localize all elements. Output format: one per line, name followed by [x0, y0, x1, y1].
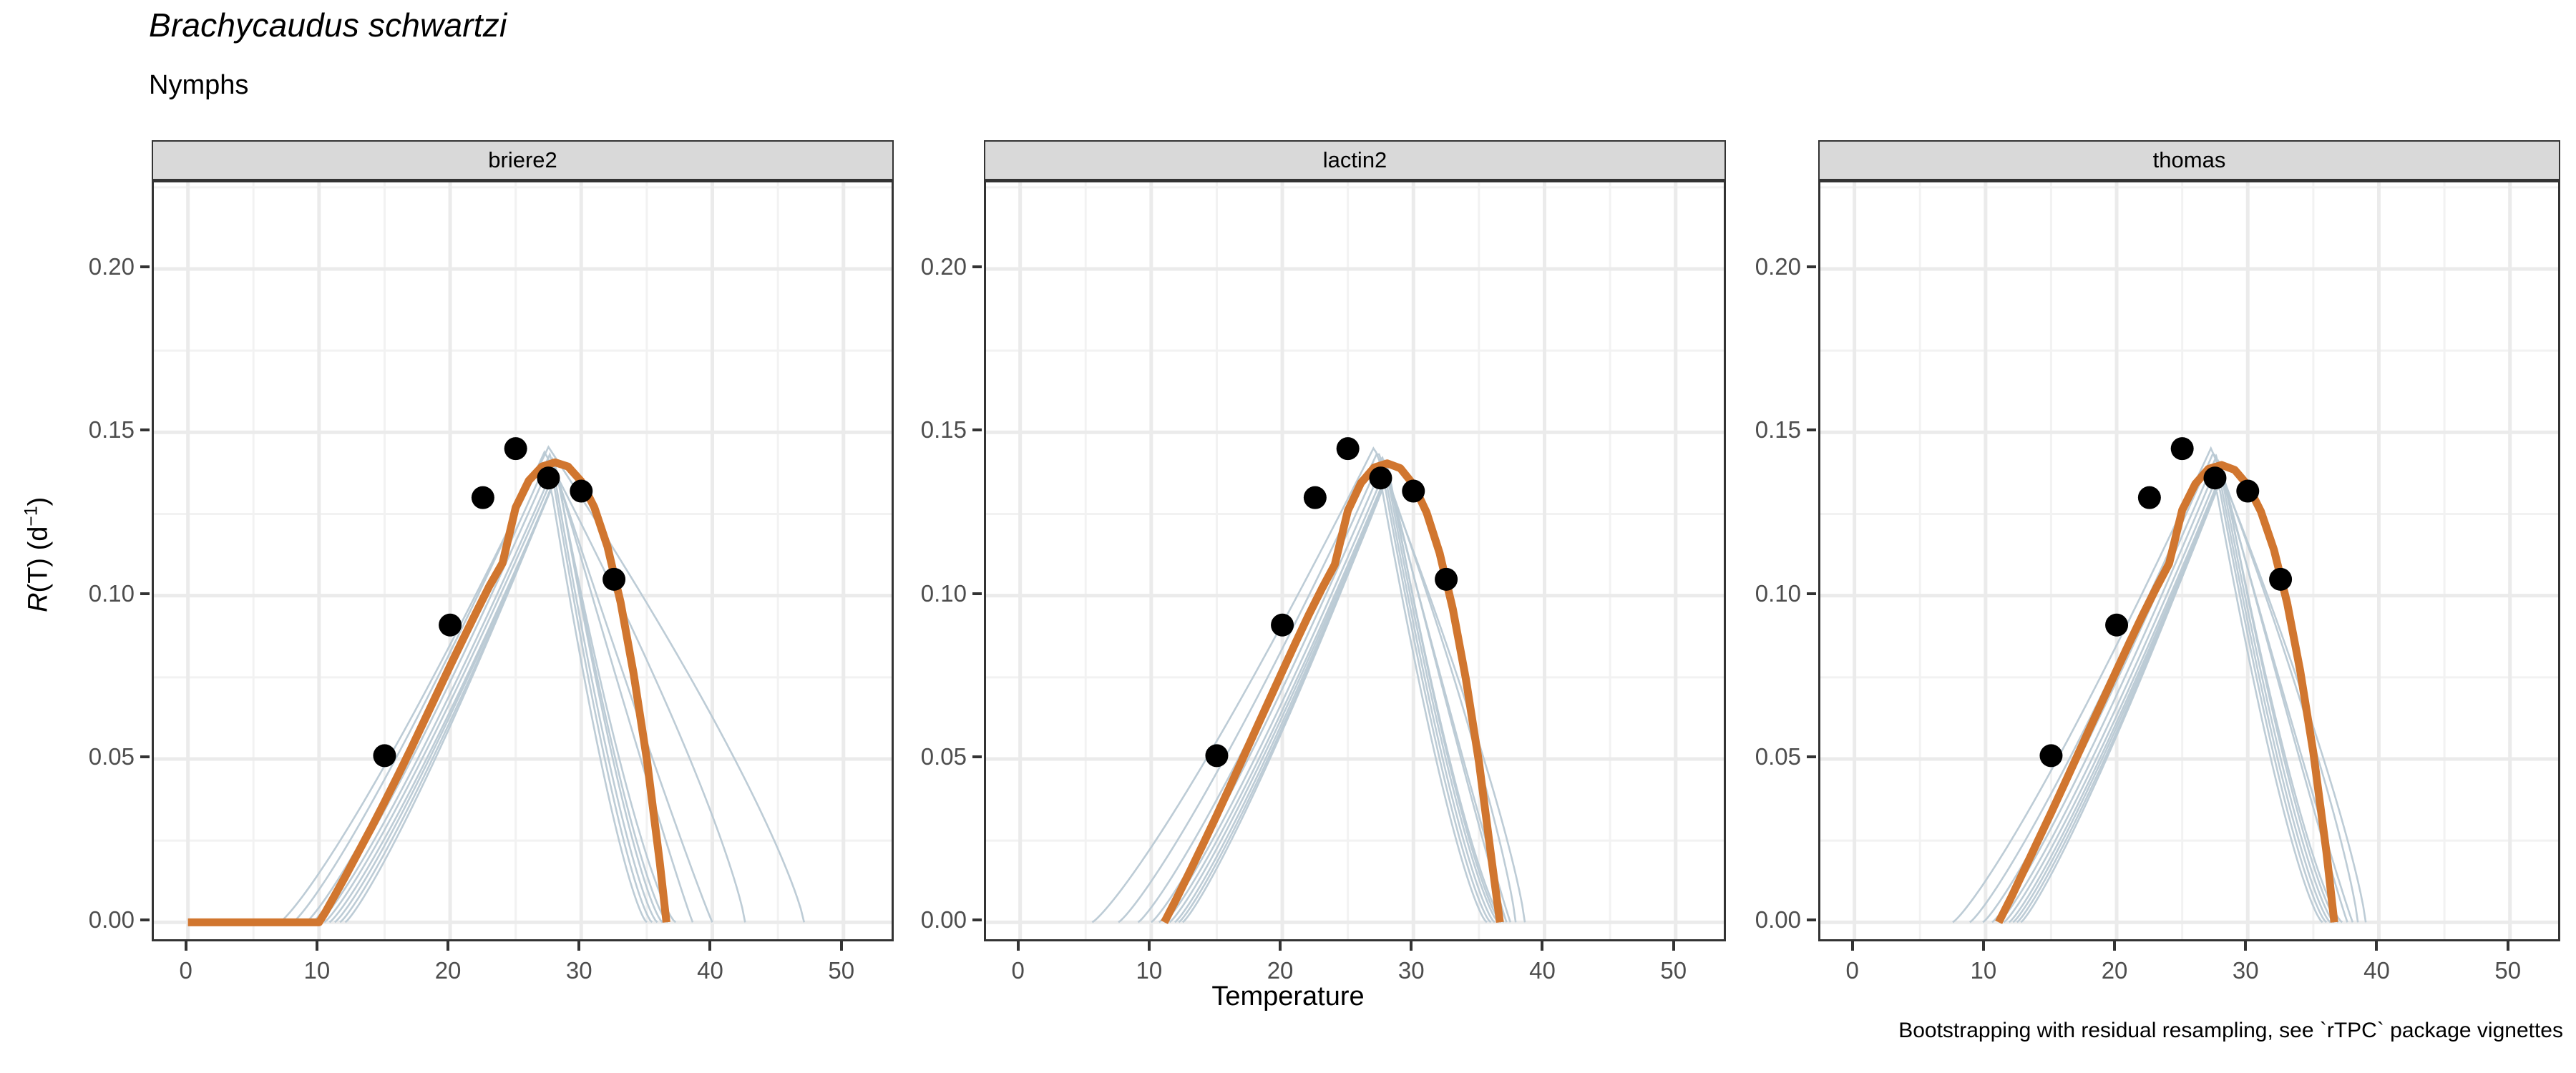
plot-canvas-thomas — [1820, 182, 2560, 941]
data-point — [439, 614, 462, 637]
x-tick-label: 0 — [1845, 957, 1858, 984]
data-point — [2138, 486, 2161, 509]
grid-major — [154, 182, 894, 941]
y-tick-label: 0.00 — [9, 906, 135, 934]
x-tick-mark — [1672, 941, 1675, 951]
y-tick-mark — [1807, 918, 1816, 921]
plot-area-thomas — [1818, 180, 2560, 941]
data-point — [1435, 568, 1458, 591]
data-point — [1369, 466, 1392, 489]
data-point — [2203, 466, 2226, 489]
y-tick-label: 0.05 — [841, 743, 967, 770]
x-tick-mark — [316, 941, 318, 951]
grid-major — [986, 182, 1726, 941]
x-tick-mark — [447, 941, 449, 951]
y-tick-label: 0.20 — [9, 253, 135, 280]
grid-minor — [154, 182, 894, 941]
data-point — [537, 466, 560, 489]
x-tick-label: 10 — [1970, 957, 1996, 984]
y-tick-mark — [1807, 265, 1816, 268]
y-tick-label: 0.15 — [1675, 416, 1801, 444]
y-tick-label: 0.05 — [9, 743, 135, 770]
data-point — [2171, 437, 2194, 460]
y-tick-label: 0.00 — [841, 906, 967, 934]
x-tick-mark — [1148, 941, 1151, 951]
data-point — [570, 480, 592, 503]
y-tick-label: 0.15 — [841, 416, 967, 444]
x-axis-title: Temperature — [0, 981, 2576, 1012]
plot-canvas-briere2 — [154, 182, 894, 941]
facet-strip-label-lactin2: lactin2 — [984, 140, 1726, 180]
data-point — [2269, 568, 2292, 591]
figure-root: Brachycaudus schwartzi Nymphs R(T) (d−1)… — [0, 0, 2576, 1073]
y-tick-mark — [140, 918, 150, 921]
x-tick-mark — [2244, 941, 2247, 951]
x-tick-mark — [1982, 941, 1985, 951]
y-tick-label: 0.10 — [841, 580, 967, 607]
figure-subtitle: Nymphs — [149, 70, 248, 101]
data-point — [472, 486, 494, 509]
y-tick-mark — [140, 265, 150, 268]
x-tick-mark — [577, 941, 580, 951]
x-tick-mark — [1541, 941, 1543, 951]
y-tick-mark — [1807, 428, 1816, 431]
x-tick-mark — [2113, 941, 2116, 951]
x-tick-label: 40 — [1529, 957, 1556, 984]
x-tick-label: 50 — [1660, 957, 1687, 984]
grid-minor — [1820, 182, 2560, 941]
data-point — [1304, 486, 1327, 509]
bootstrap-lines — [1092, 449, 1525, 923]
data-point — [2105, 614, 2128, 637]
data-point — [504, 437, 527, 460]
data-point — [1337, 437, 1360, 460]
x-tick-mark — [708, 941, 711, 951]
y-tick-mark — [972, 918, 982, 921]
facet-strip-label-thomas: thomas — [1818, 140, 2560, 180]
grid-minor — [986, 182, 1726, 941]
data-point — [2039, 744, 2062, 767]
y-tick-label: 0.00 — [1675, 906, 1801, 934]
grid-major — [1820, 182, 2560, 941]
x-tick-label: 30 — [566, 957, 592, 984]
y-tick-label: 0.05 — [1675, 743, 1801, 770]
data-point — [602, 568, 625, 591]
y-tick-label: 0.20 — [1675, 253, 1801, 280]
x-tick-mark — [1017, 941, 1020, 951]
figure-caption: Bootstrapping with residual resampling, … — [1898, 1019, 2563, 1043]
figure-title: Brachycaudus schwartzi — [149, 6, 507, 44]
x-tick-label: 0 — [1011, 957, 1024, 984]
x-tick-label: 30 — [2233, 957, 2259, 984]
x-tick-label: 40 — [697, 957, 723, 984]
x-tick-label: 30 — [1398, 957, 1425, 984]
plot-area-lactin2 — [984, 180, 1726, 941]
plot-area-briere2 — [152, 180, 894, 941]
y-tick-mark — [972, 755, 982, 758]
y-axis-title: R(T) (d−1) — [22, 304, 54, 805]
y-tick-label: 0.20 — [841, 253, 967, 280]
y-tick-mark — [972, 265, 982, 268]
y-tick-label: 0.10 — [9, 580, 135, 607]
y-tick-mark — [140, 755, 150, 758]
y-tick-label: 0.15 — [9, 416, 135, 444]
x-tick-label: 50 — [828, 957, 854, 984]
x-tick-mark — [1410, 941, 1413, 951]
x-tick-mark — [1279, 941, 1282, 951]
x-tick-label: 20 — [2102, 957, 2128, 984]
x-tick-mark — [840, 941, 843, 951]
x-tick-mark — [2507, 941, 2509, 951]
data-point — [2236, 480, 2259, 503]
y-tick-mark — [1807, 592, 1816, 595]
y-tick-mark — [140, 428, 150, 431]
data-point — [1271, 614, 1294, 637]
y-tick-mark — [1807, 755, 1816, 758]
x-tick-label: 50 — [2494, 957, 2521, 984]
data-points — [2039, 437, 2292, 767]
x-tick-label: 20 — [435, 957, 462, 984]
y-tick-mark — [972, 428, 982, 431]
x-tick-label: 0 — [179, 957, 192, 984]
plot-canvas-lactin2 — [986, 182, 1726, 941]
x-tick-mark — [2375, 941, 2378, 951]
x-tick-label: 10 — [1136, 957, 1162, 984]
x-tick-label: 40 — [2363, 957, 2390, 984]
facet-strip-label-briere2: briere2 — [152, 140, 894, 180]
y-tick-label: 0.10 — [1675, 580, 1801, 607]
y-tick-mark — [140, 592, 150, 595]
x-tick-mark — [185, 941, 187, 951]
data-point — [373, 744, 396, 767]
data-point — [1205, 744, 1228, 767]
x-tick-mark — [1851, 941, 1854, 951]
x-tick-label: 10 — [303, 957, 330, 984]
x-tick-label: 20 — [1267, 957, 1294, 984]
y-tick-mark — [972, 592, 982, 595]
data-point — [1402, 480, 1425, 503]
